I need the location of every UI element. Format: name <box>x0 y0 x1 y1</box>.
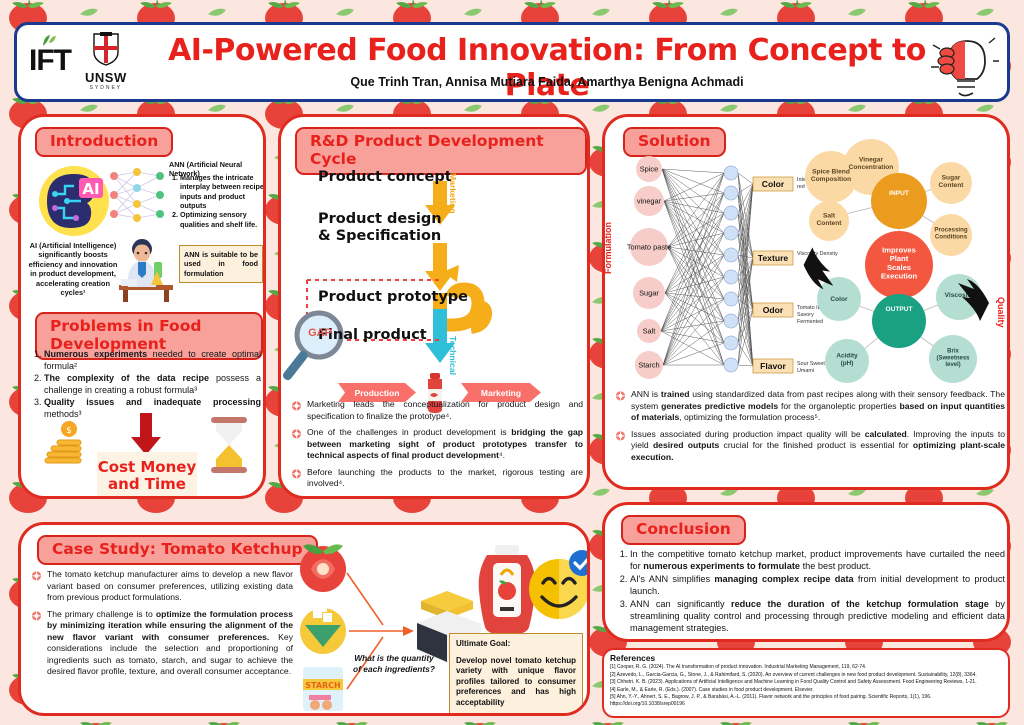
ann-point: Optimizing sensory qualities and shelf l… <box>180 210 265 229</box>
ann-hidden-node <box>724 226 738 240</box>
references-list: [1] Cooper, R. G. (2024). The AI transfo… <box>610 664 1006 709</box>
tomato-bullet-icon <box>291 468 302 479</box>
mindmap-node-label: (Sweetness <box>936 355 970 361</box>
rnd-bullet-item: One of the challenges in product develop… <box>291 427 583 462</box>
hourglass-icon <box>207 417 251 473</box>
mindmap-node-label: Salt <box>823 212 836 219</box>
starch-label: STARCH <box>305 681 341 690</box>
sugar-icon <box>300 603 346 654</box>
introduction-panel: Introduction AI AI (Artificial Intellige… <box>18 114 266 499</box>
ift-logo-text: IFT <box>29 44 71 77</box>
cycle-step-design-line1: Product design <box>318 211 442 228</box>
mindmap-node-label: Acidity <box>836 352 858 359</box>
mindmap-node-label: Concentration <box>849 164 894 171</box>
mindmap-node-label: Vinegar <box>859 156 884 163</box>
rnd-bullet-text: Marketing leads the conceptualization fo… <box>307 399 583 422</box>
cycle-step-design-line2: & Specification <box>318 228 442 245</box>
neural-network-icon <box>106 164 168 226</box>
ultimate-goal-title: Ultimate Goal: <box>456 639 576 650</box>
ketchup-bottle-large-icon <box>479 545 536 645</box>
happy-face-icon <box>529 550 590 619</box>
header-logos: IFT UNSW SYDNEY <box>29 32 127 91</box>
ai-brain-icon: AI <box>37 164 111 238</box>
ann-output-label: Odor <box>763 305 784 315</box>
ai-caption-text: AI (Artificial Intelligence) significant… <box>27 241 119 298</box>
reference-item: [4] Earle, M., & Earle, R. (Eds.). (2007… <box>610 687 1006 694</box>
mindmap-node-label: (pH) <box>841 360 854 367</box>
ann-output-label: Flavor <box>760 361 786 371</box>
conclusion-item: ANN can significantly reduce the duratio… <box>630 599 1005 635</box>
ann-input-label: Sugar <box>639 289 659 298</box>
question-quantity-text: What is the quantity of each ingredients… <box>351 653 437 675</box>
svg-text:AI: AI <box>82 180 99 198</box>
cycle-step-product-prototype: Product prototype <box>318 289 468 305</box>
conclusion-item: In the competitive tomato ketchup market… <box>630 549 1005 573</box>
mindmap-node-label: OUTPUT <box>885 306 912 313</box>
ann-hidden-node <box>724 206 738 220</box>
reference-item: [5] Ahn, Y.-Y., Ahnert, S. E., Bagrow, J… <box>610 694 1006 708</box>
rnd-cycle-diagram: Product concept Product design & Specifi… <box>281 159 590 409</box>
mindmap-node-label: Processing <box>934 227 968 234</box>
unsw-logo-subtext: SYDNEY <box>85 85 127 91</box>
ann-hidden-node <box>724 314 738 328</box>
solution-bullet-item: Issues associated during production impa… <box>615 429 1005 464</box>
mindmap-node-label: INPUT <box>889 190 909 197</box>
mindmap-node-label: Content <box>939 182 965 189</box>
rnd-bullet-item: Marketing leads the conceptualization fo… <box>291 399 583 422</box>
ann-output-label: Color <box>762 179 785 189</box>
ann-input-label: Spice <box>640 165 659 174</box>
mindmap-node-label: Improves <box>882 245 916 254</box>
case-study-panel: Case Study: Tomato Ketchup The tomato ke… <box>18 522 590 716</box>
flow-label-marketing: Marketing <box>448 173 458 214</box>
solution-bullet-text: Issues associated during production impa… <box>631 429 1005 464</box>
mindmap-node-label: level) <box>945 362 960 368</box>
ann-hidden-node <box>724 336 738 350</box>
flow-label-technical: Technical <box>448 336 458 375</box>
ann-hidden-node <box>724 166 738 180</box>
rnd-bullet-list: Marketing leads the conceptualization fo… <box>291 399 583 495</box>
tomato-bullet-icon <box>31 570 42 581</box>
rnd-bullet-text: One of the challenges in product develop… <box>307 427 583 462</box>
ann-hidden-node <box>724 270 738 284</box>
problem-item: Numerous experiments needed to create op… <box>44 349 261 372</box>
conclusion-item: AI's ANN simplifies managing complex rec… <box>630 574 1005 598</box>
scientist-illustration <box>111 235 181 303</box>
ann-input-label: Salt <box>643 327 656 336</box>
solution-bullet-text: ANN is trained using standardized data f… <box>631 389 1005 424</box>
tomato-bullet-icon <box>291 400 302 411</box>
tomato-bullet-icon <box>291 428 302 439</box>
unsw-shield-icon <box>91 32 121 66</box>
axis-label-formulation: Formulation <box>603 222 613 274</box>
tomato-bullet-icon <box>615 390 626 401</box>
svg-text:$: $ <box>66 426 72 436</box>
ann-point: Manages the intricate interplay between … <box>180 173 265 210</box>
ift-logo: IFT <box>29 46 71 76</box>
ann-input-label: Starch <box>638 361 659 370</box>
ann-note-box: ANN is suitable to be used in food formu… <box>179 245 263 283</box>
rnd-bullet-text: Before launching the products to the mar… <box>307 467 583 490</box>
tomato-bullet-icon <box>615 430 626 441</box>
case-bullet-item: The primary challenge is to optimize the… <box>31 609 293 678</box>
lightbulb-icon <box>927 27 1001 102</box>
section-badge-introduction: Introduction <box>35 127 173 157</box>
ann-diagram: SpicevinegarTomato pasteSugarSaltStarch … <box>613 155 795 383</box>
leaf-icon <box>41 34 57 48</box>
conclusion-list: In the competitive tomato ketchup market… <box>613 549 1005 636</box>
cycle-step-product-design: Product design & Specification <box>318 211 442 245</box>
case-bullet-item: The tomato ketchup manufacturer aims to … <box>31 569 293 604</box>
case-study-bullet-list: The tomato ketchup manufacturer aims to … <box>31 569 293 683</box>
ann-points-list: Manages the intricate interplay between … <box>169 173 265 229</box>
conclusion-panel: Conclusion In the competitive tomato ket… <box>602 502 1010 642</box>
solution-mindmap: VinegarConcentrationSpice BlendCompositi… <box>801 139 997 389</box>
unsw-logo: UNSW SYDNEY <box>85 32 127 91</box>
reference-item: [1] Cooper, R. G. (2024). The AI transfo… <box>610 664 1006 671</box>
gap-label: GAP <box>303 327 337 339</box>
mindmap-node-label: Spice Blend <box>812 168 850 175</box>
ultimate-goal-box: Ultimate Goal: Develop novel tomato ketc… <box>449 633 583 714</box>
ann-hidden-node <box>724 186 738 200</box>
mindmap-node-label: Conditions <box>935 234 968 241</box>
mindmap-node-label: Brix <box>947 348 959 354</box>
unsw-logo-text: UNSW <box>85 71 127 85</box>
mindmap-node-label: Color <box>830 296 848 303</box>
ultimate-goal-text: Develop novel tomato ketchup variety wit… <box>456 656 576 709</box>
cost-money-time-box: Cost Money and Time <box>97 452 197 499</box>
reference-item: [3] Chhetri, K. B. (2023). Applications … <box>610 679 1006 686</box>
section-badge-solution: Solution <box>623 127 726 157</box>
down-arrow-icon <box>129 413 163 455</box>
starch-icon: STARCH <box>303 667 343 711</box>
ann-output-label: Texture <box>758 253 789 263</box>
tomato-bullet-icon <box>31 610 42 621</box>
tomato-icon <box>300 544 346 592</box>
solution-panel: Solution Formulation Quality Spicevinega… <box>602 114 1010 490</box>
ann-hidden-node <box>724 248 738 262</box>
solution-bullet-list: ANN is trained using standardized data f… <box>615 389 1005 468</box>
section-badge-case-study: Case Study: Tomato Ketchup <box>37 535 318 565</box>
rnd-bullet-item: Before launching the products to the mar… <box>291 467 583 490</box>
mindmap-node-label: Sugar <box>942 174 961 181</box>
rnd-cycle-panel: R&D Product Development Cycle <box>278 114 590 499</box>
case-bullet-text: The primary challenge is to optimize the… <box>47 609 293 678</box>
coins-icon: $ <box>43 420 95 466</box>
solution-bullet-item: ANN is trained using standardized data f… <box>615 389 1005 424</box>
mindmap-node-label: Execution <box>881 272 918 281</box>
author-list: Que Trinh Tran, Annisa Mutiara Faida, Am… <box>167 75 927 89</box>
ann-hidden-node <box>724 292 738 306</box>
references-title: References <box>610 653 655 663</box>
mindmap-node-label: Scales <box>887 263 911 272</box>
page-title: AI-Powered Food Innovation: From Concept… <box>167 33 927 102</box>
case-bullet-text: The tomato ketchup manufacturer aims to … <box>47 569 293 604</box>
reference-item: [2] Azevedo, L., Garcia-Garcia, G., Ston… <box>610 672 1006 679</box>
ann-input-label: vinegar <box>637 197 662 206</box>
references-panel: References [1] Cooper, R. G. (2024). The… <box>602 648 1010 718</box>
axis-label-quality: Quality <box>996 297 1006 328</box>
mindmap-node-label: Content <box>817 220 843 227</box>
mindmap-node-label: Plant <box>890 254 909 263</box>
problems-list: Numerous experiments needed to create op… <box>29 349 261 421</box>
ann-input-label: Tomato paste <box>627 243 671 252</box>
poster-header: IFT UNSW SYDNEY AI-Powered Food Innovati… <box>14 22 1010 102</box>
cycle-step-product-concept: Product concept <box>318 169 452 185</box>
problem-item: The complexity of the data recipe posses… <box>44 373 261 396</box>
section-badge-conclusion: Conclusion <box>621 515 746 545</box>
mindmap-node-label: Composition <box>811 176 851 183</box>
ann-hidden-node <box>724 358 738 372</box>
